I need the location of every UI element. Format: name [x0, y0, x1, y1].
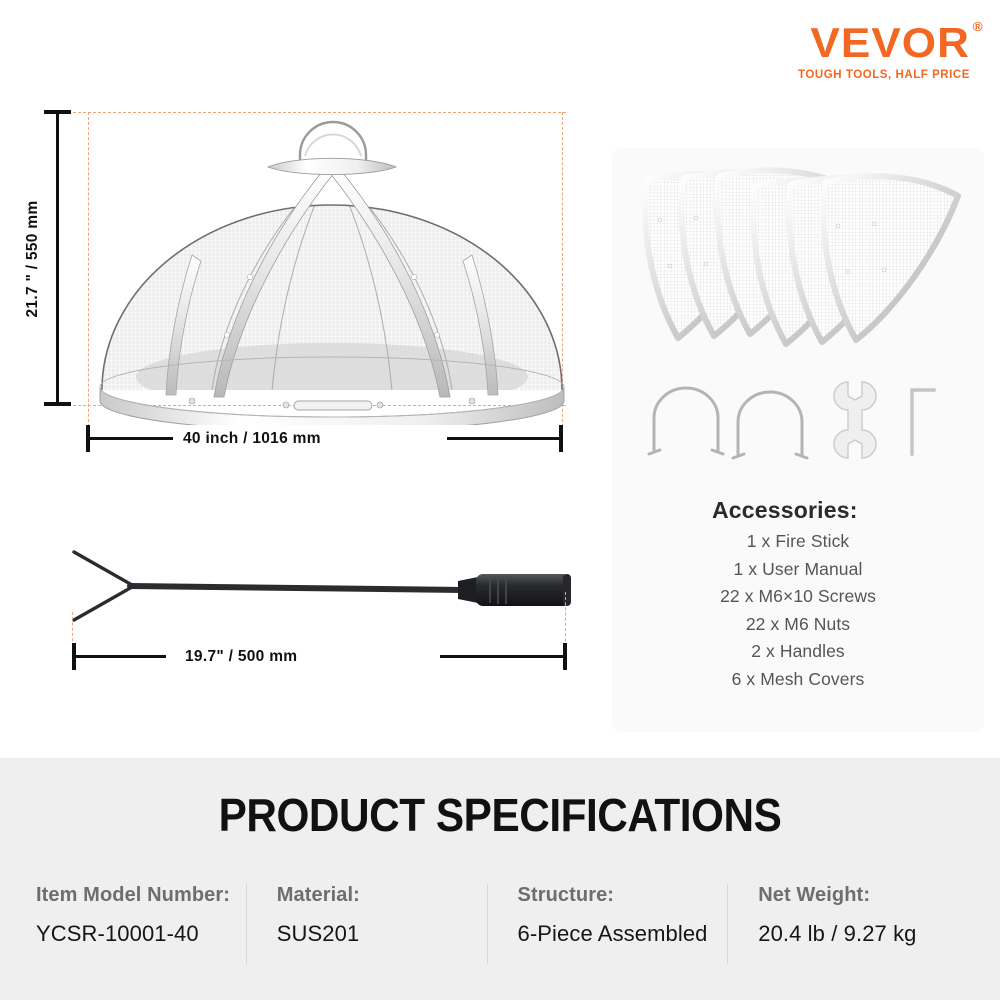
product-specifications-section: PRODUCT SPECIFICATIONS Item Model Number…	[0, 758, 1000, 1000]
spec-label: Net Weight:	[758, 884, 968, 907]
accessories-title: Accessories:	[712, 497, 858, 524]
mesh-petal-group	[646, 170, 958, 344]
spec-label: Item Model Number:	[36, 884, 246, 907]
dome-height-label: 21.7 " / 550 mm	[24, 199, 42, 319]
spec-item-net-weight: Net Weight: 20.4 lb / 9.27 kg	[727, 884, 968, 964]
accessories-list: 1 x Fire Stick 1 x User Manual 22 x M6×1…	[612, 528, 984, 693]
height-measure-cap-bottom	[44, 402, 71, 406]
mesh-petals-illustration	[630, 156, 970, 366]
mesh-dome-illustration	[72, 105, 592, 425]
accessory-item: 1 x User Manual	[612, 556, 984, 584]
registered-trademark-icon: ®	[973, 20, 984, 33]
spec-value: 20.4 lb / 9.27 kg	[758, 921, 968, 947]
fire-stick-illustration	[60, 540, 590, 650]
stick-ferrule	[458, 577, 478, 603]
dome-top-plate	[268, 158, 396, 174]
brand-name: VEVOR	[810, 19, 970, 66]
width-measure-line-left	[88, 437, 173, 440]
stick-prongs	[74, 552, 132, 620]
stick-measure-line-left	[74, 655, 166, 658]
width-measure-cap-right	[559, 425, 563, 452]
handle-part-1	[649, 388, 723, 454]
spec-label: Structure:	[518, 884, 728, 907]
accessory-item: 1 x Fire Stick	[612, 528, 984, 556]
brand-wordmark: VEVOR®	[810, 22, 970, 64]
stick-shaft	[130, 586, 464, 590]
spec-item-structure: Structure: 6-Piece Assembled	[487, 884, 728, 964]
base-side-handle	[294, 401, 372, 410]
width-measure-cap-left	[86, 425, 90, 452]
accessory-item: 22 x M6 Nuts	[612, 611, 984, 639]
spec-value: 6-Piece Assembled	[518, 921, 728, 947]
spec-value: SUS201	[277, 921, 487, 947]
brand-tagline: TOUGH TOOLS, HALF PRICE	[798, 69, 970, 81]
fire-stick-figure: 19.7" / 500 mm	[0, 530, 600, 700]
stick-measure-cap-right	[563, 643, 567, 670]
width-measure-line-right	[447, 437, 563, 440]
stick-measure-line-right	[440, 655, 565, 658]
spec-item-material: Material: SUS201	[246, 884, 487, 964]
spec-label: Material:	[277, 884, 487, 907]
allen-key-icon	[912, 390, 934, 454]
fire-stick-length-label: 19.7" / 500 mm	[185, 648, 297, 666]
specifications-row: Item Model Number: YCSR-10001-40 Materia…	[32, 884, 968, 964]
hardware-illustration	[642, 376, 952, 471]
brand-logo: VEVOR® TOUGH TOOLS, HALF PRICE	[798, 22, 970, 81]
stick-measure-cap-left	[72, 643, 76, 670]
dome-figure: 21.7 " / 550 mm	[0, 95, 600, 470]
height-measure-line	[56, 112, 59, 406]
specifications-heading: PRODUCT SPECIFICATIONS	[40, 788, 960, 842]
height-measure-cap-top	[44, 110, 71, 114]
accessory-item: 22 x M6×10 Screws	[612, 583, 984, 611]
handle-part-2	[733, 392, 807, 458]
spec-item-model-number: Item Model Number: YCSR-10001-40	[32, 884, 246, 964]
accessory-item: 2 x Handles	[612, 638, 984, 666]
wrench-icon	[834, 382, 876, 458]
dome-top-handle	[300, 122, 366, 163]
dome-width-label: 40 inch / 1016 mm	[183, 430, 321, 448]
spec-value: YCSR-10001-40	[36, 921, 246, 947]
accessory-item: 6 x Mesh Covers	[612, 666, 984, 694]
